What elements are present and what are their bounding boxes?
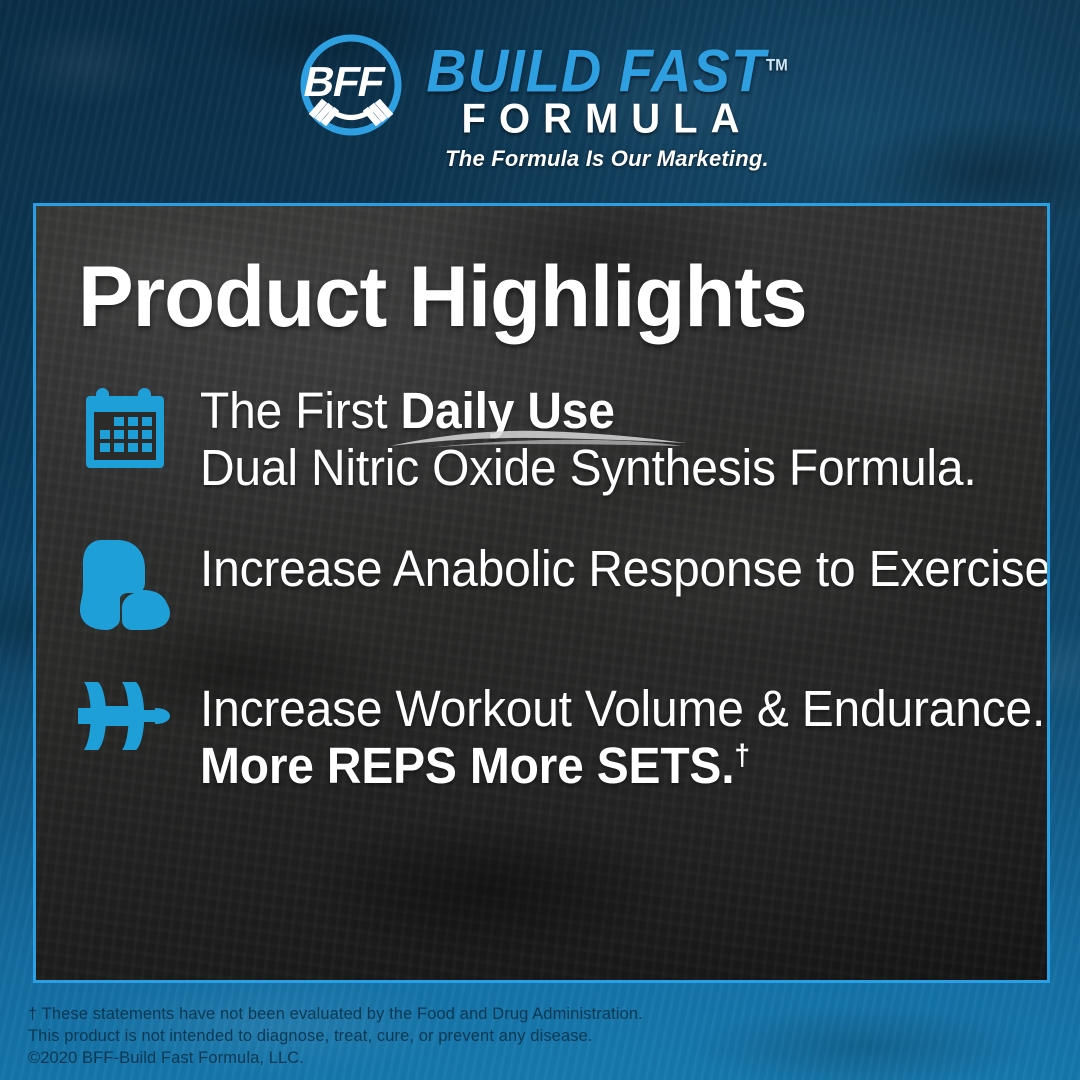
list-item-body: Increase Workout Volume & Endurance.† Mo… xyxy=(200,678,1007,794)
svg-text:BFF: BFF xyxy=(300,58,389,104)
bullet-3-dagger-2: † xyxy=(734,739,750,772)
bullet-3-line-2: More REPS More SETS.† xyxy=(200,737,959,794)
bullet-3-dagger-1: † xyxy=(1045,682,1050,715)
highlights-panel: Product Highlights xyxy=(33,203,1050,983)
list-item: Increase Anabolic Response to Exercise.† xyxy=(78,538,1007,630)
logo-lockup: BFF BUILD FASTTM FORMULA The Formula Is … xyxy=(292,28,787,172)
list-item: Increase Workout Volume & Endurance.† Mo… xyxy=(78,678,1007,794)
bff-barbell-circle-emblem-icon: BFF xyxy=(292,28,410,146)
disclaimer-line-2: This product is not intended to diagnose… xyxy=(28,1026,728,1048)
logo-wordmark: BUILD FASTTM FORMULA The Formula Is Our … xyxy=(426,28,787,172)
bullet-1-prefix: The First xyxy=(200,382,401,439)
brand-name-line1-text: BUILD FAST xyxy=(426,36,766,104)
highlights-list: The First Daily Use Dual Nitric Oxide Sy… xyxy=(78,380,1007,794)
trademark-symbol: TM xyxy=(766,56,788,74)
brand-name-line2: FORMULA xyxy=(462,98,753,140)
disclaimer: † These statements have not been evaluat… xyxy=(28,1004,728,1070)
list-item-body: The First Daily Use Dual Nitric Oxide Sy… xyxy=(200,380,1007,496)
barbell-icon xyxy=(78,678,178,754)
brand-name-line1: BUILD FASTTM xyxy=(426,42,787,100)
bullet-3-line-1: Increase Workout Volume & Endurance.† xyxy=(200,680,959,737)
list-item-body: Increase Anabolic Response to Exercise.† xyxy=(200,538,1007,597)
bullet-3-text-2: More REPS More SETS. xyxy=(200,737,734,794)
copyright-line: ©2020 BFF-Build Fast Formula, LLC. xyxy=(28,1048,728,1070)
bullet-2-line-1: Increase Anabolic Response to Exercise.† xyxy=(200,540,959,597)
bullet-1-line-2: Dual Nitric Oxide Synthesis Formula. xyxy=(200,439,959,496)
brand-tagline: The Formula Is Our Marketing. xyxy=(445,146,769,172)
product-highlights-poster: BFF BUILD FASTTM FORMULA The Formula Is … xyxy=(0,0,1080,1080)
brand-header: BFF BUILD FASTTM FORMULA The Formula Is … xyxy=(0,28,1080,168)
flexed-bicep-icon xyxy=(78,538,178,630)
bullet-3-text: Increase Workout Volume & Endurance. xyxy=(200,680,1045,737)
disclaimer-line-1: † These statements have not been evaluat… xyxy=(28,1004,728,1026)
page-title: Product Highlights xyxy=(78,254,979,340)
calendar-icon xyxy=(78,380,178,476)
list-item: The First Daily Use Dual Nitric Oxide Sy… xyxy=(78,380,1007,496)
bullet-2-text: Increase Anabolic Response to Exercise. xyxy=(200,540,1050,597)
